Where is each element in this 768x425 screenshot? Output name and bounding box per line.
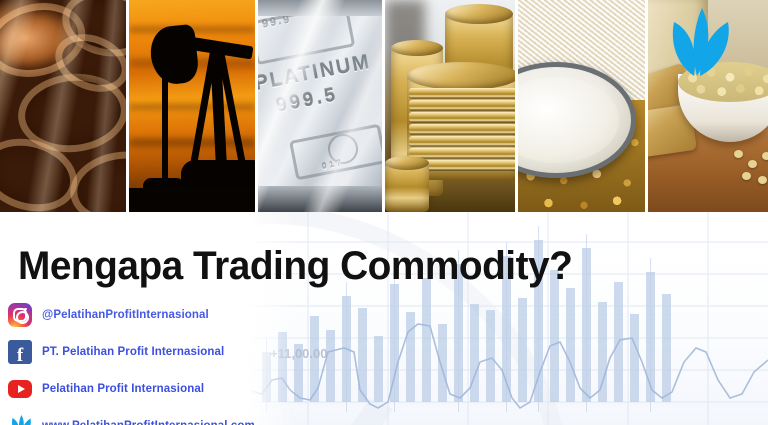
- social-row-youtube[interactable]: Pelatihan Profit Internasional: [8, 374, 255, 404]
- website-url: www.PelatihanProfitInternasional.com: [42, 420, 255, 425]
- instagram-lens: [16, 311, 29, 324]
- instagram-handle: @PelatihanProfitInternasional: [42, 309, 209, 321]
- sugar-in-pan: [518, 77, 619, 163]
- lotus-small-icon: [8, 414, 32, 425]
- social-links-list: @PelatihanProfitInternasional f PT. Pela…: [8, 300, 255, 425]
- facebook-f-glyph: f: [17, 346, 23, 365]
- platinum-specular-highlight: [258, 0, 382, 212]
- instagram-icon[interactable]: [8, 303, 32, 327]
- coin-edge: [409, 136, 517, 146]
- commodity-image-strip-band: 99.9 PLATINUM 999.5 017: [0, 0, 768, 212]
- coin-edge: [409, 88, 517, 98]
- social-row-instagram[interactable]: @PelatihanProfitInternasional: [8, 300, 255, 330]
- page-title: Mengapa Trading Commodity?: [18, 246, 572, 286]
- strip-copper-pipes: [0, 0, 129, 212]
- cloud-band: [129, 104, 255, 110]
- pump-rod: [162, 72, 168, 178]
- copper-highlight: [0, 0, 126, 212]
- strip-platinum-bar: 99.9 PLATINUM 999.5 017: [258, 0, 385, 212]
- social-row-facebook[interactable]: f PT. Pelatihan Profit Internasional: [8, 337, 255, 367]
- facebook-page-name: PT. Pelatihan Profit Internasional: [42, 346, 224, 358]
- coin-top-face: [385, 156, 429, 170]
- strip-gold-coins: [385, 0, 518, 212]
- website-icon[interactable]: [8, 414, 32, 425]
- coin-top-face: [391, 40, 443, 56]
- ground-silhouette: [129, 188, 255, 212]
- facebook-icon[interactable]: f: [8, 340, 32, 364]
- instagram-dot: [24, 308, 27, 311]
- play-triangle-icon: [18, 385, 25, 393]
- lotus-leaf-logo: [660, 6, 734, 78]
- coin-top-face: [407, 62, 518, 90]
- youtube-icon-wrap[interactable]: [8, 377, 32, 401]
- loose-soybean: [762, 152, 768, 160]
- commodity-promo-poster: 99.9 PLATINUM 999.5 017: [0, 0, 768, 425]
- coin-edge: [409, 124, 517, 134]
- youtube-icon[interactable]: [8, 380, 32, 398]
- coin-edge: [409, 148, 517, 158]
- coin-edge: [409, 112, 517, 122]
- social-row-website[interactable]: www.PelatihanProfitInternasional.com: [8, 411, 255, 425]
- youtube-channel-name: Pelatihan Profit Internasional: [42, 383, 204, 395]
- coin-top-face: [445, 4, 513, 24]
- coin-edge: [409, 100, 517, 110]
- strip-rice-sugar-corn: [518, 0, 648, 212]
- strip-oil-pump-jack: [129, 0, 258, 212]
